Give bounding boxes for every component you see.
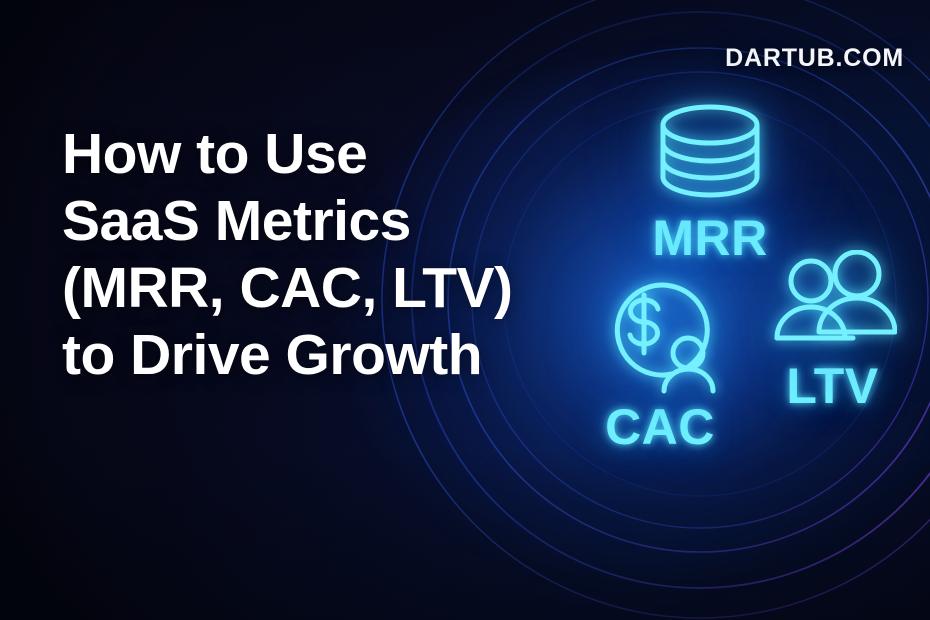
metric-cac: CAC — [560, 275, 760, 454]
page-title: How to Use SaaS Metrics (MRR, CAC, LTV) … — [62, 121, 517, 389]
metric-ltv-label: LTV — [745, 359, 920, 413]
users-group-icon — [745, 250, 920, 363]
thumbnail-canvas: DARTUB.COM How to Use SaaS Metrics (MRR,… — [0, 0, 930, 620]
brand-logo-text: DARTUB.COM — [725, 44, 904, 73]
title-line-4: to Drive Growth — [62, 322, 517, 389]
dollar-circle-person-icon — [560, 275, 760, 402]
title-line-1: How to Use — [62, 121, 517, 188]
title-line-3: (MRR, CAC, LTV) — [62, 255, 517, 322]
metric-cac-label: CAC — [560, 400, 760, 454]
metric-mrr: MRR — [600, 100, 820, 265]
database-stack-icon — [600, 100, 820, 209]
metric-ltv: LTV — [745, 250, 920, 413]
title-line-2: SaaS Metrics — [62, 188, 517, 255]
